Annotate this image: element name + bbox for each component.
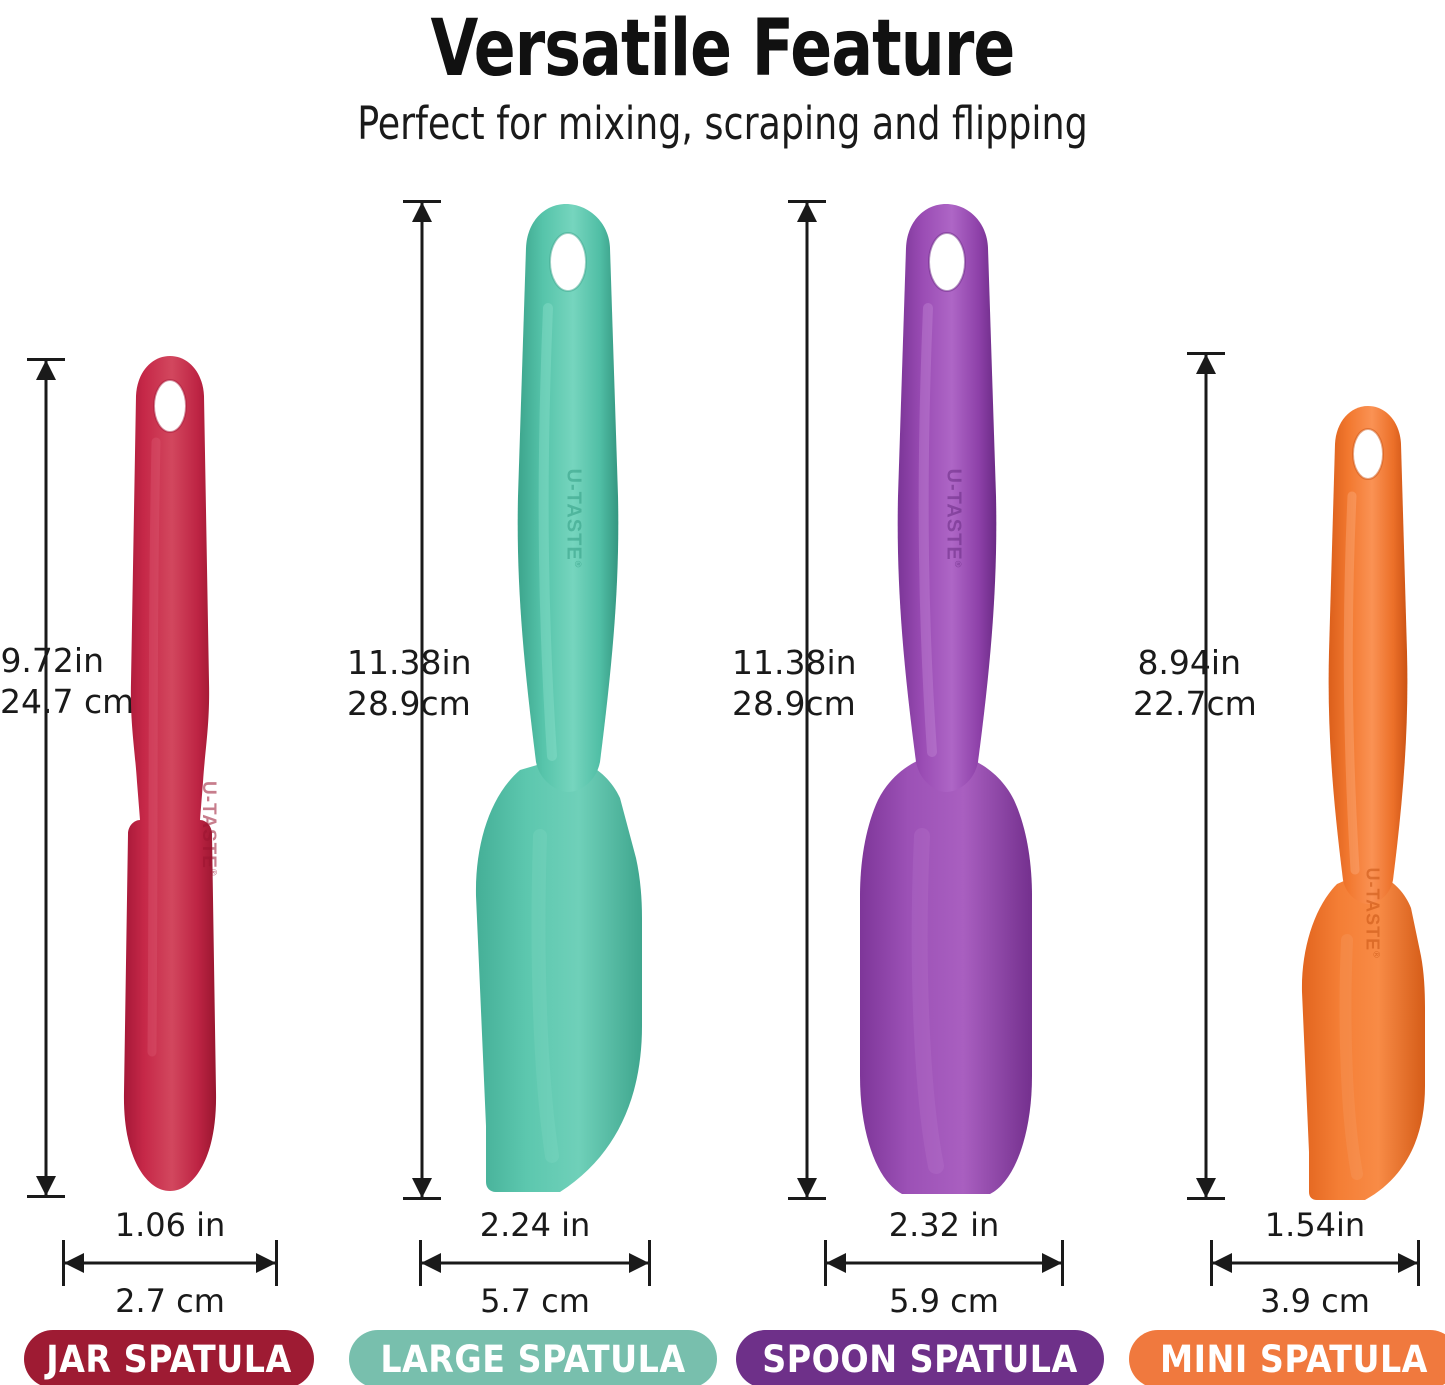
product-pill-label: LARGE SPATULA bbox=[380, 1338, 685, 1381]
height-label-mini-spatula: 8.94in 22.7cm bbox=[1133, 642, 1241, 724]
width-cm: 5.9 cm bbox=[824, 1282, 1064, 1320]
width-dimension-mini-spatula: 1.54in 3.9 cm bbox=[1210, 1240, 1420, 1286]
width-cm: 2.7 cm bbox=[62, 1282, 278, 1320]
product-pill-spoon-spatula[interactable]: SPOON SPATULA bbox=[736, 1330, 1104, 1385]
height-cm: 24.7 cm bbox=[0, 681, 104, 722]
arrowhead-up-icon bbox=[797, 202, 817, 222]
arrowhead-down-icon bbox=[797, 1178, 817, 1198]
dimension-line bbox=[45, 358, 48, 1198]
height-inches: 9.72in bbox=[0, 640, 104, 681]
width-dimension-jar-spatula: 1.06 in 2.7 cm bbox=[62, 1240, 278, 1286]
arrowhead-left-icon bbox=[1212, 1253, 1232, 1273]
arrowhead-down-icon bbox=[412, 1178, 432, 1198]
dimension-line bbox=[824, 1262, 1064, 1265]
product-pill-jar-spatula[interactable]: JAR SPATULA bbox=[24, 1330, 314, 1385]
width-dimension-spoon-spatula: 2.32 in 5.9 cm bbox=[824, 1240, 1064, 1286]
dimension-line bbox=[62, 1262, 278, 1265]
width-cm: 3.9 cm bbox=[1210, 1282, 1420, 1320]
product-column-spoon-spatula: 11.38in 28.9cm bbox=[740, 0, 1115, 1385]
spoon-spatula-image: U-TASTE® bbox=[818, 196, 1076, 1204]
infographic-page: Versatile Feature Perfect for mixing, sc… bbox=[0, 0, 1445, 1385]
arrowhead-up-icon bbox=[36, 360, 56, 380]
arrowhead-right-icon bbox=[256, 1253, 276, 1273]
product-pill-label: JAR SPATULA bbox=[46, 1338, 291, 1381]
product-column-large-spatula: 11.38in 28.9cm bbox=[355, 0, 733, 1385]
width-inches: 2.24 in bbox=[419, 1206, 651, 1244]
product-pill-label: SPOON SPATULA bbox=[762, 1338, 1077, 1381]
product-column-mini-spatula: 8.94in 22.7cm bbox=[1125, 0, 1445, 1385]
width-inches: 1.54in bbox=[1210, 1206, 1420, 1244]
arrowhead-left-icon bbox=[421, 1253, 441, 1273]
mini-spatula-image: U-TASTE® bbox=[1273, 400, 1445, 1208]
dimension-line bbox=[1205, 352, 1208, 1200]
height-label-jar-spatula: 9.72in 24.7 cm bbox=[0, 640, 104, 722]
arrowhead-down-icon bbox=[1196, 1178, 1216, 1198]
arrowhead-up-icon bbox=[412, 202, 432, 222]
arrowhead-right-icon bbox=[1042, 1253, 1062, 1273]
arrowhead-right-icon bbox=[1398, 1253, 1418, 1273]
arrowhead-up-icon bbox=[1196, 354, 1216, 374]
product-pill-label: MINI SPATULA bbox=[1160, 1338, 1428, 1381]
width-cm: 5.7 cm bbox=[419, 1282, 651, 1320]
width-inches: 2.32 in bbox=[824, 1206, 1064, 1244]
arrowhead-right-icon bbox=[629, 1253, 649, 1273]
width-dimension-large-spatula: 2.24 in 5.7 cm bbox=[419, 1240, 651, 1286]
arrowhead-left-icon bbox=[64, 1253, 84, 1273]
jar-spatula-image: U-TASTE® bbox=[104, 352, 236, 1200]
arrowhead-left-icon bbox=[826, 1253, 846, 1273]
height-cm: 22.7cm bbox=[1133, 683, 1241, 724]
height-dimension-jar-spatula bbox=[27, 358, 65, 1198]
dimension-line bbox=[1210, 1262, 1420, 1265]
product-pill-mini-spatula[interactable]: MINI SPATULA bbox=[1129, 1330, 1445, 1385]
height-dimension-mini-spatula bbox=[1187, 352, 1225, 1200]
product-pill-large-spatula[interactable]: LARGE SPATULA bbox=[349, 1330, 717, 1385]
arrowhead-down-icon bbox=[36, 1176, 56, 1196]
height-inches: 8.94in bbox=[1133, 642, 1241, 683]
dimension-line bbox=[419, 1262, 651, 1265]
large-spatula-image: U-TASTE® bbox=[440, 196, 690, 1204]
width-inches: 1.06 in bbox=[62, 1206, 278, 1244]
product-column-jar-spatula: 9.72in 24.7 cm bbox=[0, 0, 362, 1385]
